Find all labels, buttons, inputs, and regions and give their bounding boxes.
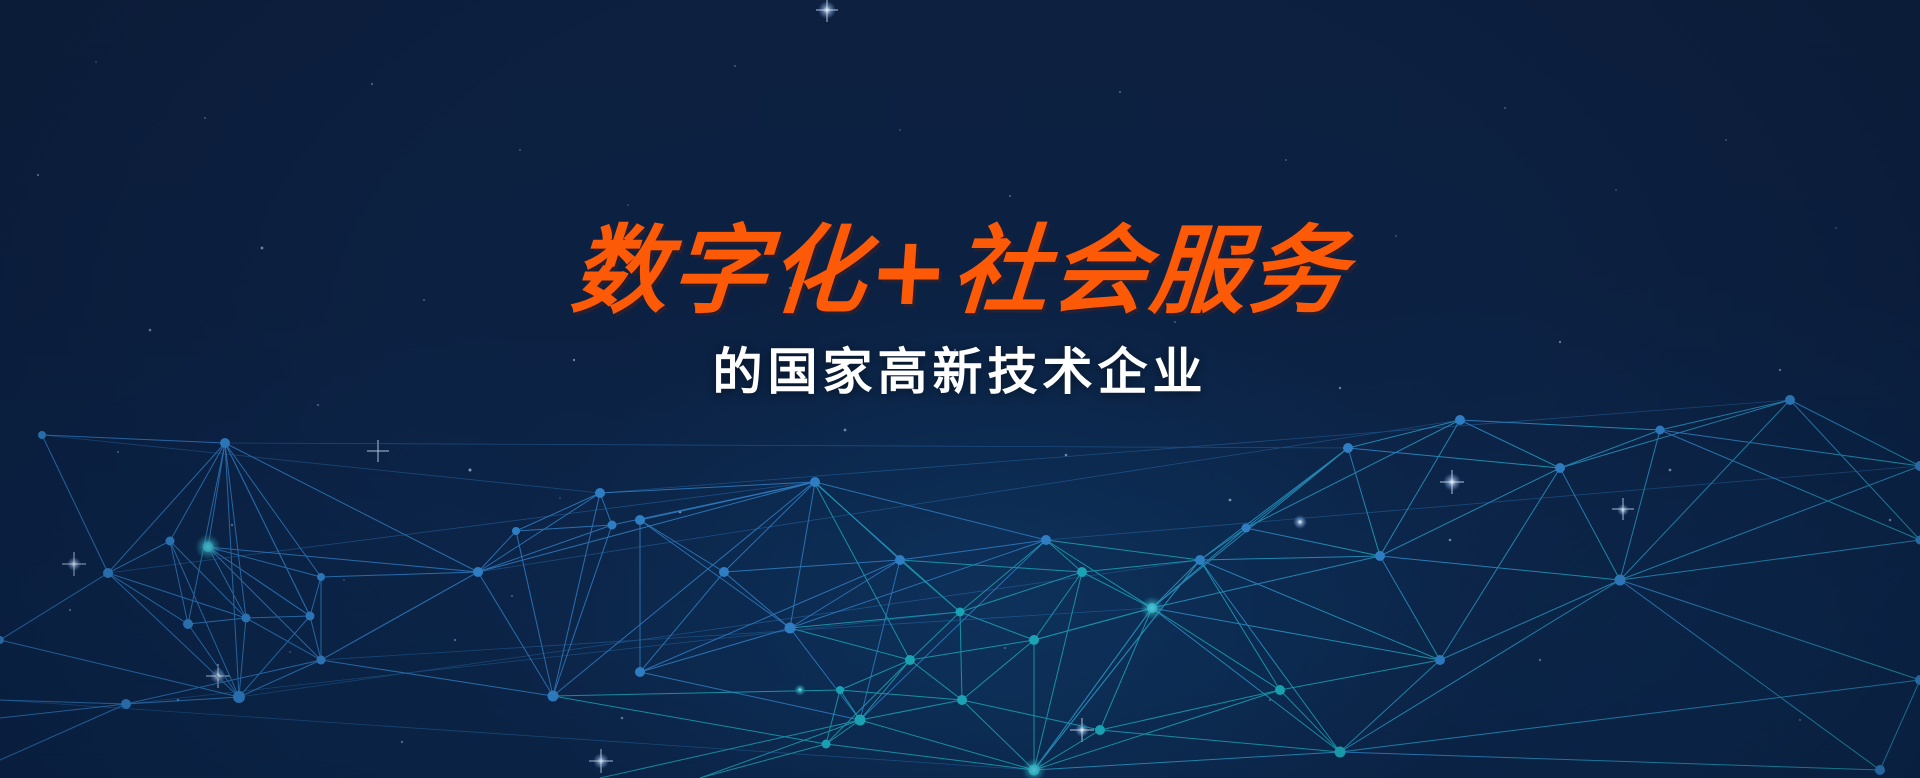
hero-text-block: 数字化+社会服务 的国家高新技术企业 [0, 222, 1920, 399]
hero-banner: 数字化+社会服务 的国家高新技术企业 [0, 0, 1920, 778]
page-title: 数字化+社会服务 [0, 222, 1920, 322]
page-subtitle: 的国家高新技术企业 [0, 344, 1920, 399]
